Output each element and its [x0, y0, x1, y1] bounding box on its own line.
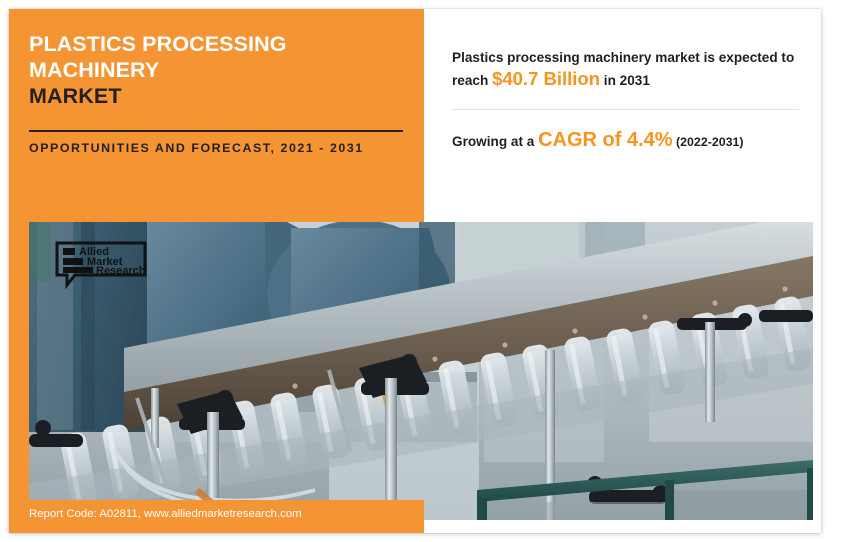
stats-divider	[452, 109, 799, 110]
cagr-figure: CAGR of 4.4%	[538, 129, 672, 151]
infographic-card: PLASTICS PROCESSING MACHINERY MARKET OPP…	[9, 9, 821, 533]
title-divider	[29, 130, 403, 132]
market-value-figure: $40.7 Billion	[492, 68, 600, 89]
report-title-primary: PLASTICS PROCESSING MACHINERY	[29, 32, 287, 82]
market-value-statement: Plastics processing machinery market is …	[452, 47, 799, 91]
header-block: PLASTICS PROCESSING MACHINERY MARKET	[9, 9, 424, 221]
market-value-suffix: in 2031	[600, 73, 650, 88]
svg-text:Research: Research	[96, 265, 146, 277]
report-code-caption: Report Code: A02811, www.alliedmarketres…	[29, 507, 302, 522]
caption-band: Report Code: A02811, www.alliedmarketres…	[9, 500, 424, 533]
product-photo: Allied Market Research	[29, 222, 813, 520]
cagr-prefix: Growing at a	[452, 134, 538, 149]
logo-icon: Allied Market Research	[53, 241, 149, 289]
report-title-secondary: MARKET	[29, 83, 402, 109]
allied-market-research-logo: Allied Market Research	[53, 241, 149, 289]
cagr-period: (2022-2031)	[673, 135, 744, 149]
page-title: PLASTICS PROCESSING MACHINERY MARKET	[29, 31, 402, 109]
statistics-panel: Plastics processing machinery market is …	[424, 9, 821, 221]
cagr-statement: Growing at a CAGR of 4.4% (2022-2031)	[452, 130, 799, 153]
report-subtitle: OPPORTUNITIES AND FORECAST, 2021 - 2031	[29, 140, 407, 157]
